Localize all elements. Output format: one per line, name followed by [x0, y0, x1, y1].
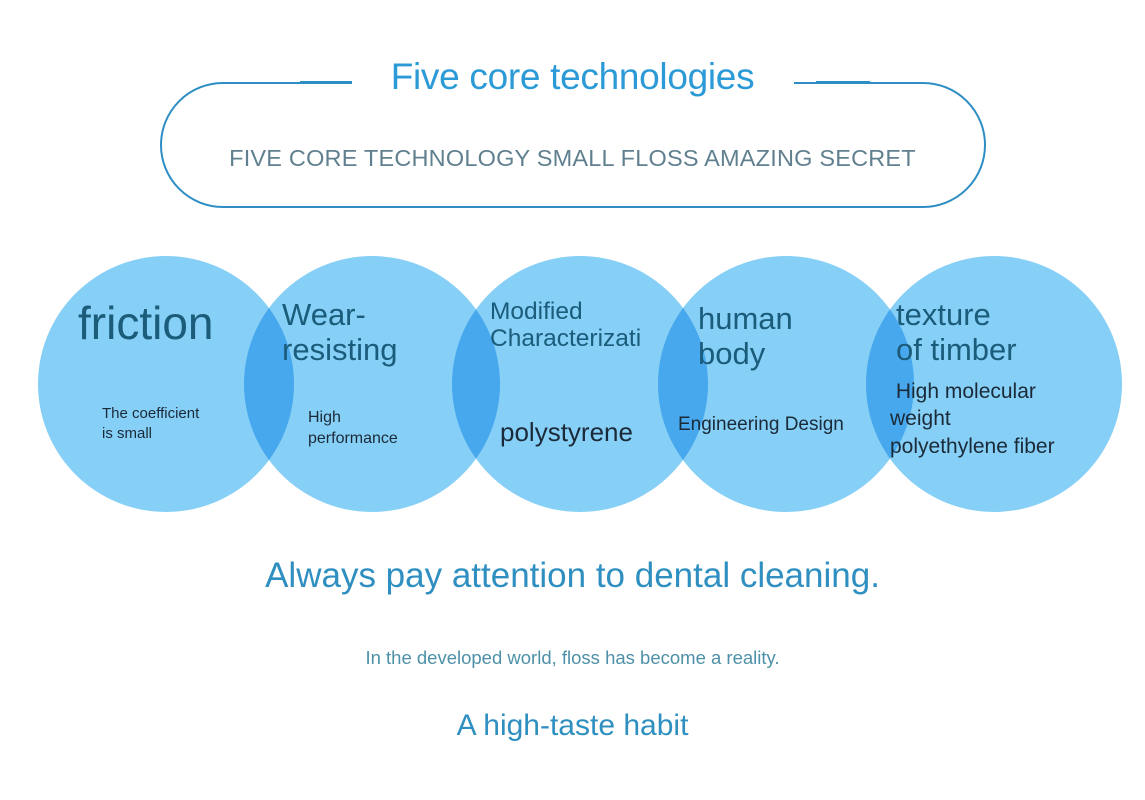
venn-subtext-wear-resisting: High performance: [308, 408, 398, 450]
venn-subtext-friction: The coefficient is small: [102, 404, 199, 443]
venn-subtext-modified-characterization: polystyrene: [500, 416, 633, 450]
venn-heading-human-body: human body: [698, 302, 793, 371]
footer-note: In the developed world, floss has become…: [0, 647, 1145, 669]
venn-subtext-human-body: Engineering Design: [678, 413, 844, 438]
venn-subtext-texture-of-timber: High molecular weight polyethylene fiber: [890, 378, 1055, 460]
footer-tagline: A high-taste habit: [0, 709, 1145, 743]
venn-heading-wear-resisting: Wear- resisting: [282, 298, 397, 367]
venn-heading-texture-of-timber: texture of timber: [896, 298, 1017, 367]
venn-label-group-texture-of-timber: texture of timber High molecular weight …: [866, 256, 1122, 512]
footer-headline: Always pay attention to dental cleaning.: [0, 556, 1145, 596]
venn-heading-friction: friction: [78, 298, 213, 350]
